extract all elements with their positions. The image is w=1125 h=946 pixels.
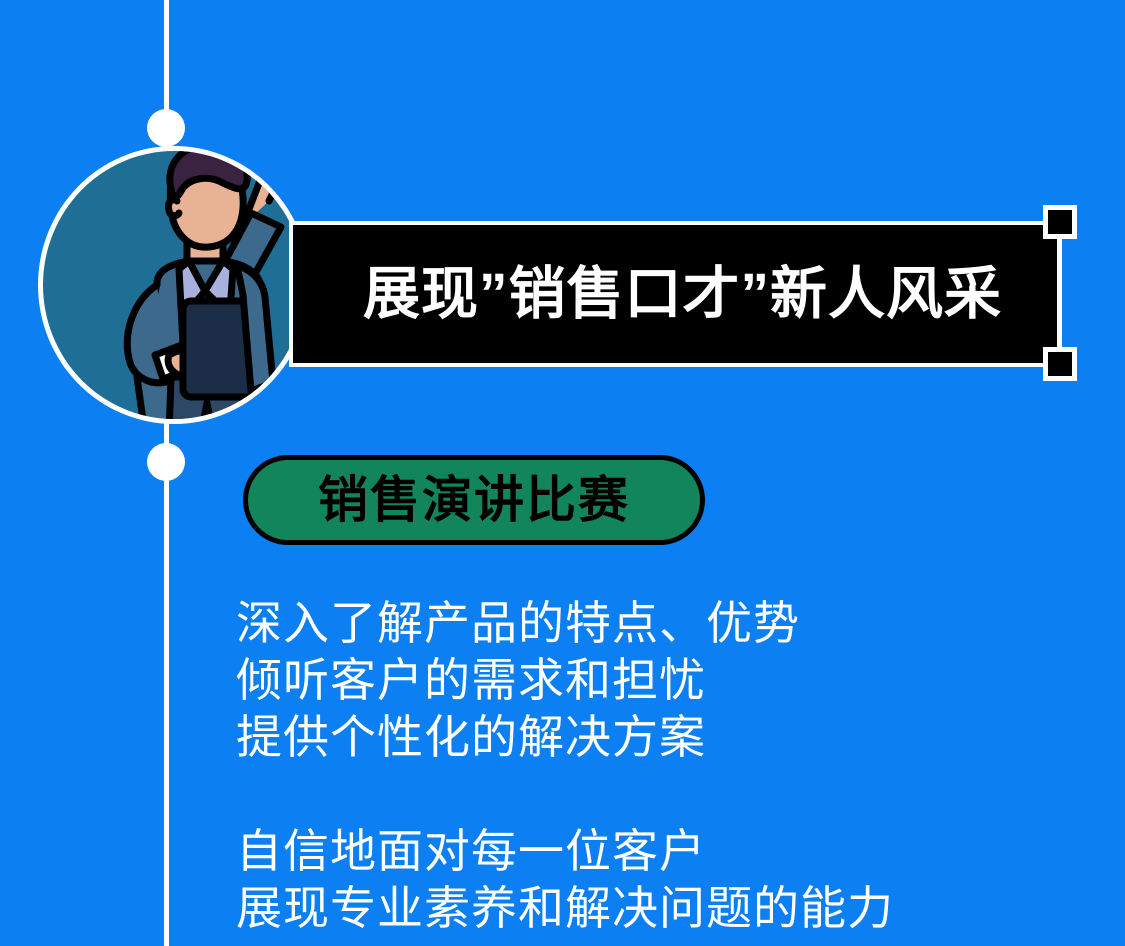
paragraph-2-line-2: 展现专业素养和解决问题的能力 [236,880,1096,937]
subtitle-badge-label: 销售演讲比赛 [318,475,630,525]
paragraph-1-line-2: 倾听客户的需求和担忧 [236,652,1096,709]
corner-square-top-right [1043,205,1077,239]
paragraph-2: 自信地面对每一位客户 展现专业素养和解决问题的能力 [236,823,1096,937]
illustration [38,146,310,424]
guide-dot-top [147,109,185,147]
paragraph-2-line-1: 自信地面对每一位客户 [236,823,1096,880]
title-bar: 展现”销售口才”新人风采 [289,221,1061,367]
body-copy: 深入了解产品的特点、优势 倾听客户的需求和担忧 提供个性化的解决方案 自信地面对… [236,595,1096,937]
guide-dot-bottom [147,443,185,481]
paragraph-1-line-3: 提供个性化的解决方案 [236,709,1096,766]
poster-canvas: 展现”销售口才”新人风采 销售演讲比赛 深入了解产品的特点、优势 倾听客户的需求… [0,0,1125,946]
businessman-pointing-up-icon [38,146,310,424]
paragraph-1: 深入了解产品的特点、优势 倾听客户的需求和担忧 提供个性化的解决方案 [236,595,1096,766]
paragraph-1-line-1: 深入了解产品的特点、优势 [236,595,1096,652]
subtitle-badge: 销售演讲比赛 [243,455,705,545]
page-title: 展现”销售口才”新人风采 [363,266,1002,323]
corner-square-bottom-right [1043,347,1077,381]
illustration-circle [38,146,310,424]
